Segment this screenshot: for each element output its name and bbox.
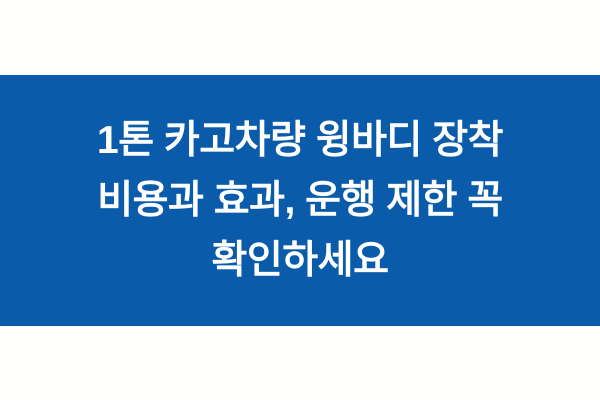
headline-line-2: 비용과 효과, 운행 제한 꼭 bbox=[40, 171, 560, 231]
thumbnail-canvas: 1톤 카고차량 윙바디 장착 비용과 효과, 운행 제한 꼭 확인하세요 bbox=[0, 0, 600, 400]
headline-title: 1톤 카고차량 윙바디 장착 비용과 효과, 운행 제한 꼭 확인하세요 bbox=[40, 111, 560, 291]
headline-line-3: 확인하세요 bbox=[40, 231, 560, 291]
headline-line-1: 1톤 카고차량 윙바디 장착 bbox=[40, 111, 560, 171]
blue-banner: 1톤 카고차량 윙바디 장착 비용과 효과, 운행 제한 꼭 확인하세요 bbox=[0, 75, 600, 326]
